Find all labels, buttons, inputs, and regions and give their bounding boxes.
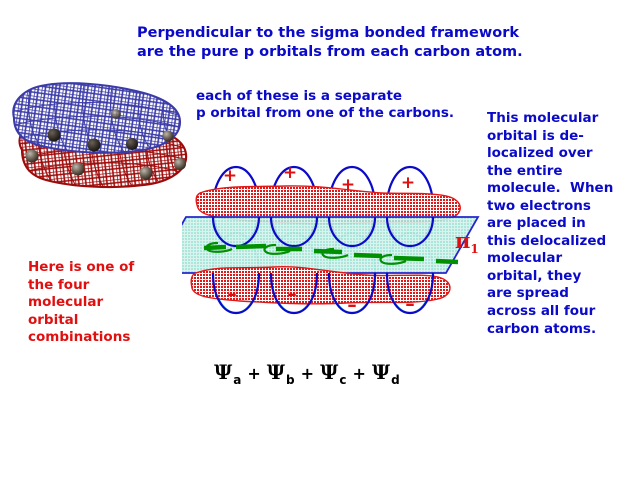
equation-operator-3: +	[347, 364, 371, 383]
paragraph-line: orbital, they	[487, 268, 581, 284]
paragraph-line: across all four	[487, 303, 595, 319]
paragraph-line: are spread	[487, 285, 569, 301]
paragraph-line: molecule. When	[487, 180, 613, 196]
paragraph-line: are placed in	[487, 215, 586, 231]
psi-symbol-d: Ψ	[372, 360, 391, 384]
figure-title: Perpendicular to the sigma bonded framew…	[137, 24, 523, 62]
figure-title-line1: Perpendicular to the sigma bonded framew…	[137, 25, 519, 41]
pi-subscript: 1	[470, 242, 478, 256]
psi-symbol-b: Ψ	[267, 360, 286, 384]
wavefunction-equation: Ψa+Ψb+Ψc+Ψd	[214, 360, 401, 387]
lobe-sign-plus-2: +	[283, 163, 297, 183]
paragraph-line: carbon atoms.	[487, 321, 596, 337]
lobe-sign-plus-4: +	[401, 173, 415, 193]
orbital-note: each of these is a separate p orbital fr…	[196, 88, 454, 123]
lobe-sign-minus-2: –	[287, 283, 297, 305]
psi-symbol-c: Ψ	[320, 360, 339, 384]
pi-symbol: π	[455, 228, 470, 253]
figure-canvas: + + + + – – – – Perpendicular to the sig…	[0, 0, 640, 480]
psi-subscript-b: b	[286, 373, 296, 387]
caption-line: the four	[28, 277, 89, 293]
orbital-note-line2: p orbital from one of the carbons.	[196, 105, 454, 121]
lobe-sign-minus-4: –	[405, 293, 415, 315]
paragraph-line: localized over	[487, 145, 593, 161]
lobe-sign-minus-1: –	[227, 283, 237, 305]
pi-orbital-diagram: + + + + – – – –	[182, 145, 482, 345]
lobe-sign-minus-3: –	[347, 294, 357, 316]
paragraph-line: the entire	[487, 163, 563, 179]
lobe-sign-plus-3: +	[341, 175, 355, 195]
psi-subscript-a: a	[233, 373, 242, 387]
molecular-model-3d	[8, 78, 198, 202]
caption-line: molecular	[28, 294, 103, 310]
lobe-sign-plus-1: +	[223, 166, 237, 186]
paragraph-line: orbital is de-	[487, 128, 584, 144]
caption-line: combinations	[28, 329, 130, 345]
equation-operator-1: +	[242, 364, 266, 383]
caption-line: Here is one of	[28, 259, 134, 275]
equation-operator-2: +	[296, 364, 320, 383]
caption-line: orbital	[28, 312, 78, 328]
paragraph-line: this delocalized	[487, 233, 606, 249]
model-caption: Here is one of the four molecular orbita…	[28, 259, 134, 347]
psi-symbol-a: Ψ	[214, 360, 233, 384]
paragraph-line: This molecular	[487, 110, 598, 126]
figure-title-line2: are the pure p orbitals from each carbon…	[137, 44, 523, 60]
pi-orbital-label: π1	[455, 228, 479, 256]
paragraph-line: molecular	[487, 250, 562, 266]
orbital-note-line1: each of these is a separate	[196, 88, 402, 104]
delocalization-paragraph: This molecular orbital is de- localized …	[487, 110, 613, 338]
psi-subscript-d: d	[391, 373, 401, 387]
paragraph-line: two electrons	[487, 198, 591, 214]
